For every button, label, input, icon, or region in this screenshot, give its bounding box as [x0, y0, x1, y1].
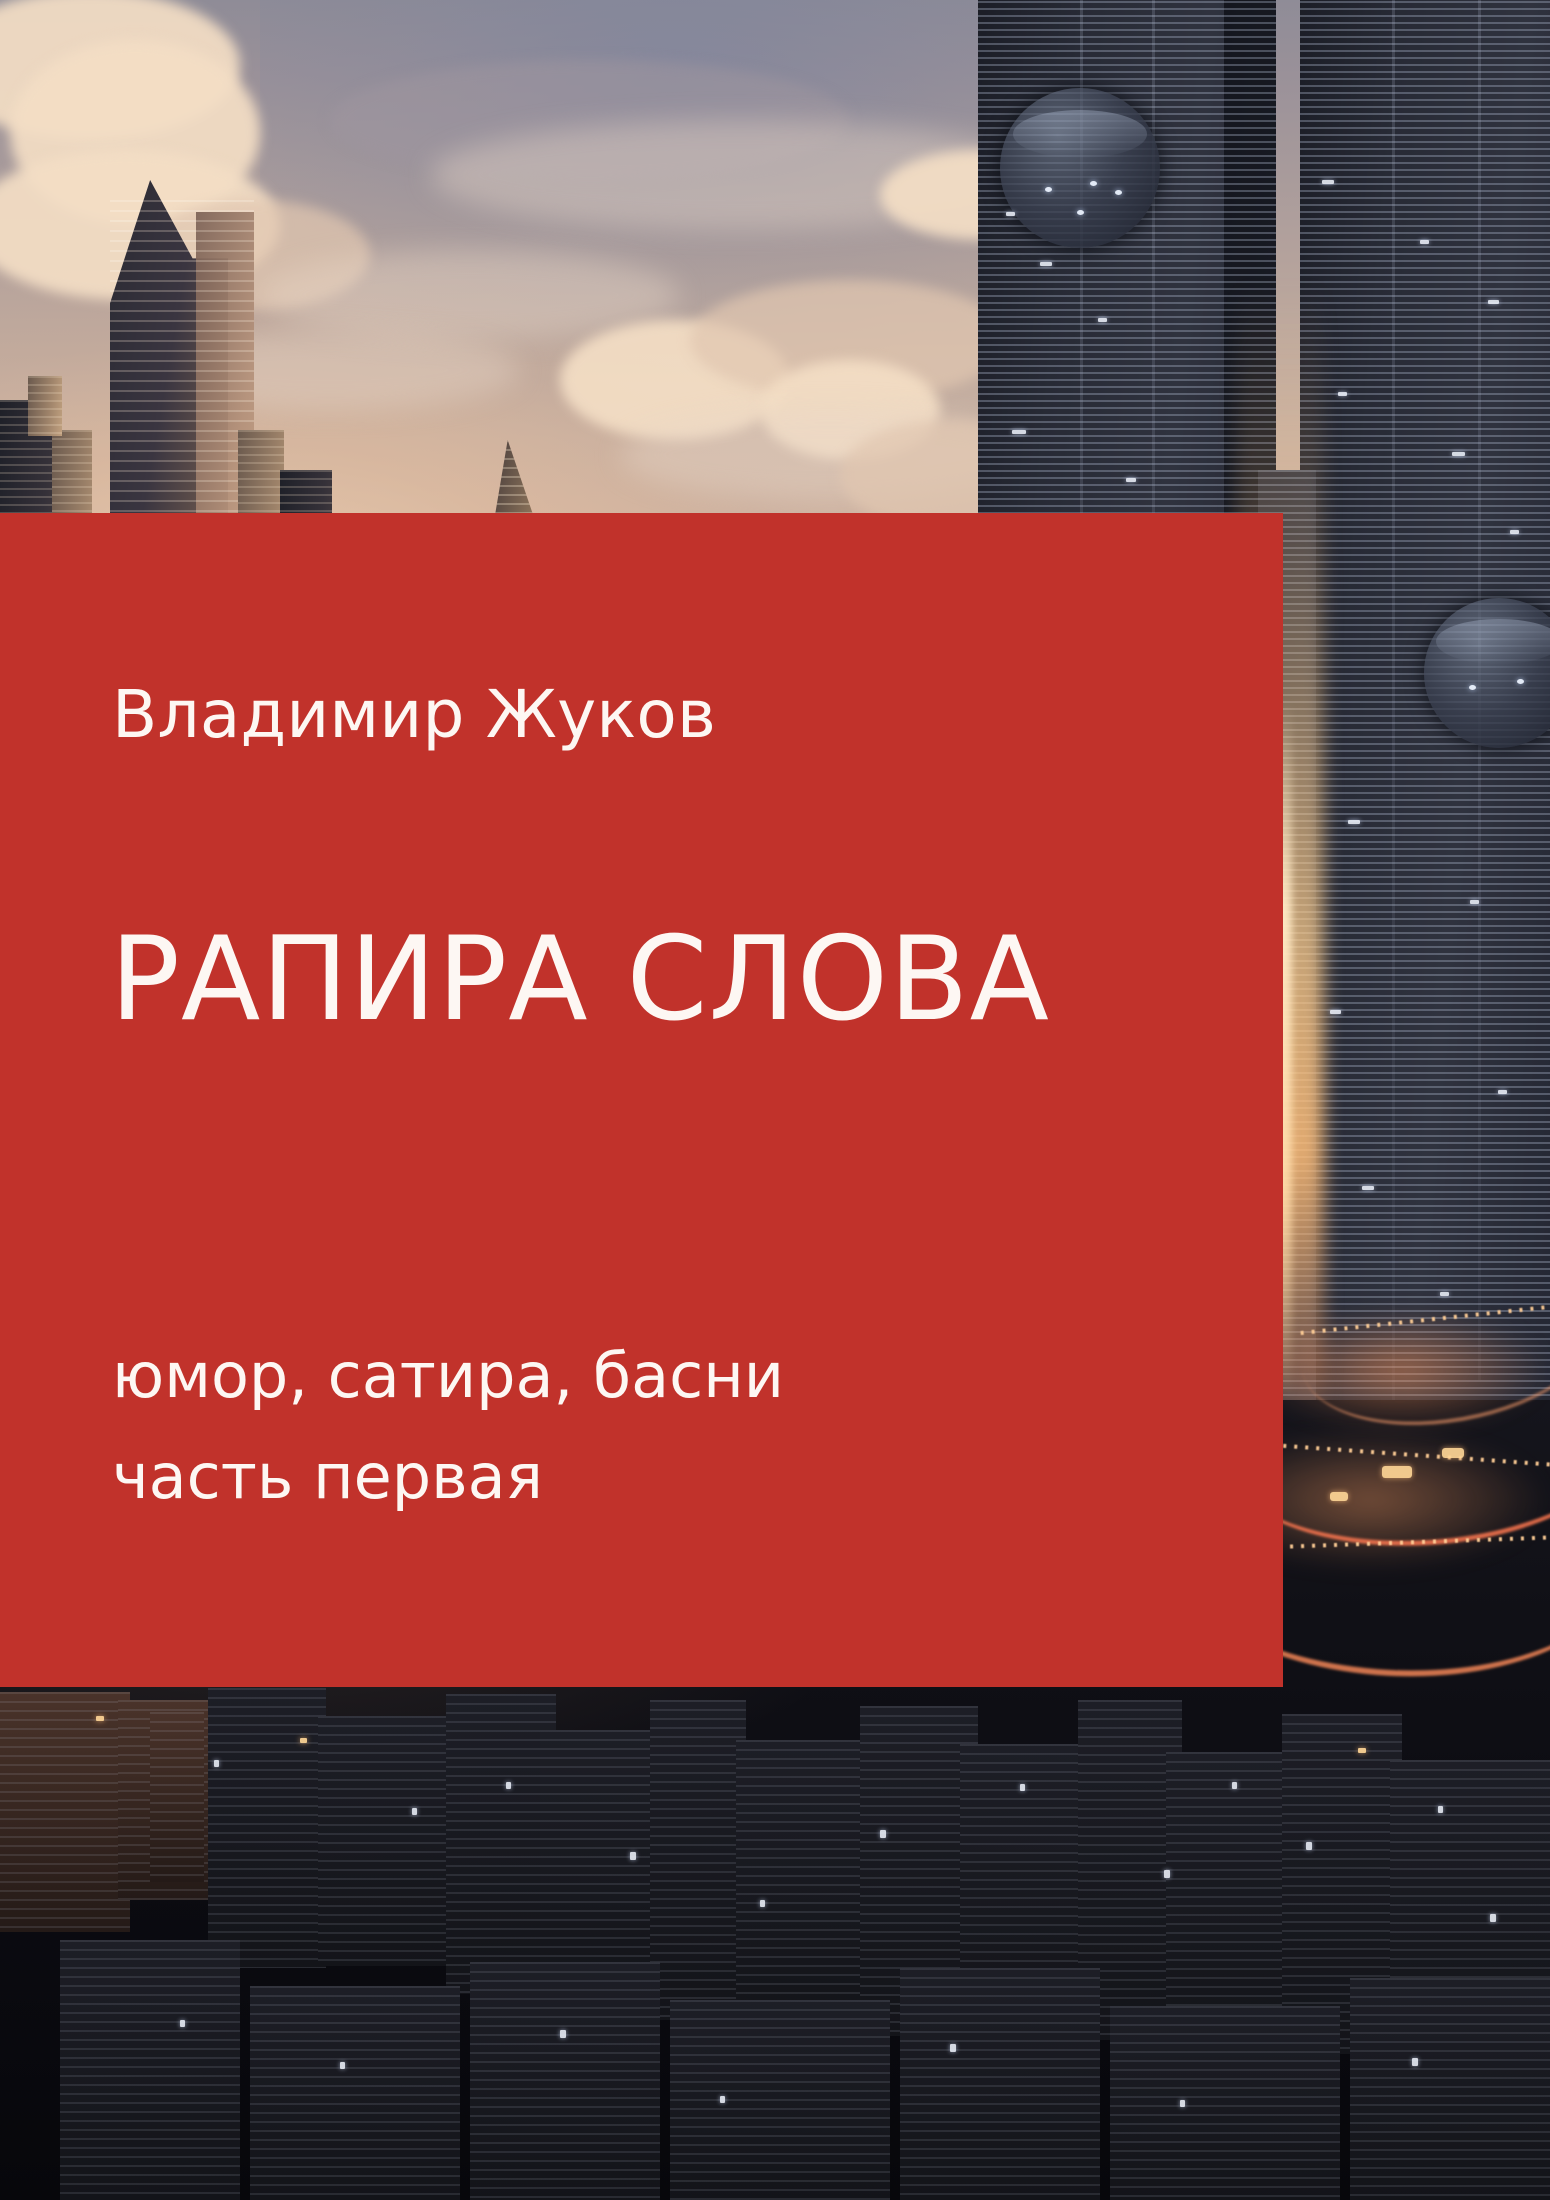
night-building — [0, 1692, 130, 1932]
author-name: Владимир Жуков — [112, 676, 716, 753]
city-light — [1164, 1870, 1170, 1878]
disc-running-light — [1517, 679, 1524, 684]
tower-window — [1452, 452, 1465, 456]
night-building — [736, 1740, 876, 2020]
city-light — [1306, 1842, 1312, 1850]
tower-window — [1420, 240, 1429, 244]
book-title: РАПИРА СЛОВА — [110, 912, 1050, 1047]
disc-running-light — [1469, 685, 1476, 690]
night-building — [60, 1940, 240, 2200]
city-light — [1412, 2058, 1418, 2066]
city-light — [180, 2020, 185, 2027]
cloud — [260, 250, 680, 340]
city-light — [300, 1738, 307, 1743]
tower-window — [1006, 212, 1015, 216]
tower-window — [1126, 478, 1136, 482]
tower-window — [1012, 430, 1026, 434]
subtitle-line-2: часть первая — [112, 1426, 784, 1527]
night-building — [540, 1730, 668, 2000]
night-building — [1350, 1978, 1550, 2200]
background-building — [28, 376, 62, 436]
night-building — [250, 1986, 460, 2200]
night-building — [470, 1962, 660, 2200]
city-light — [760, 1900, 765, 1907]
city-light — [950, 2044, 956, 2052]
tower-window — [1348, 820, 1360, 824]
tower-window — [1098, 318, 1107, 322]
night-building — [208, 1688, 326, 1968]
night-building — [1110, 2006, 1340, 2200]
disc-running-light — [1077, 210, 1084, 215]
tower-window — [1362, 1186, 1374, 1190]
city-light — [720, 2096, 725, 2103]
tower-window — [1040, 262, 1052, 266]
night-building — [670, 2000, 890, 2200]
tower-window — [1488, 300, 1499, 304]
city-light — [506, 1782, 511, 1789]
city-light — [214, 1760, 219, 1767]
city-light — [340, 2062, 345, 2069]
tower-window — [1322, 180, 1334, 184]
city-light — [880, 1830, 886, 1838]
tower-seam — [1392, 0, 1395, 1400]
tower-window — [1498, 1090, 1507, 1094]
night-building — [150, 1712, 204, 1882]
night-building — [650, 1700, 746, 2020]
city-light — [1232, 1782, 1237, 1789]
city-light — [1180, 2100, 1185, 2107]
city-light — [1358, 1748, 1366, 1753]
city-light — [560, 2030, 566, 2038]
disc-running-light — [1115, 190, 1122, 195]
subtitle-line-1: юмор, сатира, басни — [112, 1325, 784, 1426]
tower-window — [1510, 530, 1519, 534]
traffic-cluster — [1442, 1448, 1464, 1458]
tower-window — [1470, 900, 1479, 904]
flying-disc-craft — [1000, 88, 1160, 248]
city-light — [630, 1852, 636, 1860]
traffic-cluster — [1382, 1466, 1412, 1478]
city-light — [1020, 1784, 1025, 1791]
city-light — [1438, 1806, 1443, 1813]
traffic-cluster — [1330, 1492, 1348, 1501]
disc-running-light — [1045, 187, 1052, 192]
city-light — [412, 1808, 417, 1815]
night-building — [900, 1968, 1100, 2200]
city-light — [96, 1716, 104, 1721]
book-cover: Владимир Жуков РАПИРА СЛОВА юмор, сатира… — [0, 0, 1550, 2200]
night-building — [318, 1716, 460, 1966]
book-subtitle: юмор, сатира, басни часть первая — [112, 1325, 784, 1527]
tower-window — [1330, 1010, 1341, 1014]
disc-running-light — [1090, 181, 1097, 186]
city-light — [1490, 1914, 1496, 1922]
tower-window — [1338, 392, 1347, 396]
